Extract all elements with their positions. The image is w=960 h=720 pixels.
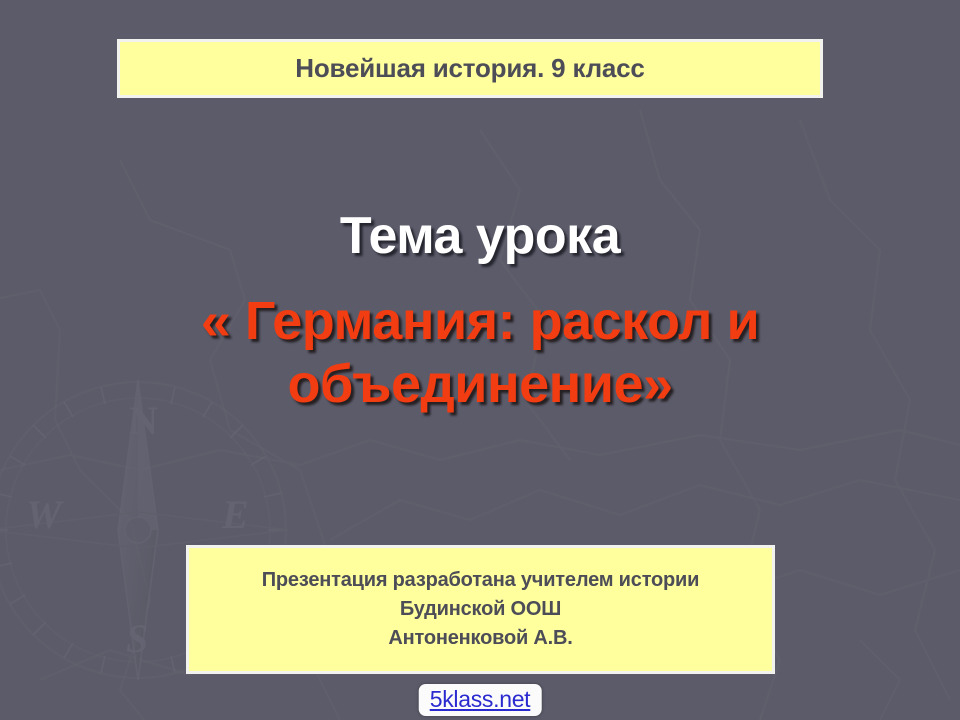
lesson-title: « Германия: раскол и объединение» [0, 290, 960, 415]
header-banner: Новейшая история. 9 класс [117, 39, 823, 98]
presentation-slide: N S E W Новейшая история. 9 класс Тема у… [0, 0, 960, 720]
course-label: Новейшая история. 9 класс [295, 53, 644, 84]
credit-line-3: Антоненковой А.В. [388, 625, 572, 652]
title-block: Тема урока « Германия: раскол и объедине… [0, 208, 960, 415]
watermark-link[interactable]: 5klass.net [430, 686, 531, 712]
credit-box: Презентация разработана учителем истории… [186, 545, 775, 674]
compass-letter-s: S [126, 616, 148, 661]
compass-letter-w: W [26, 492, 64, 537]
compass-letter-e: E [221, 492, 249, 537]
watermark-badge[interactable]: 5klass.net [419, 684, 542, 716]
credit-line-1: Презентация разработана учителем истории [262, 567, 700, 594]
lesson-topic-label: Тема урока [0, 208, 960, 264]
credit-line-2: Будинской ООШ [400, 596, 561, 623]
